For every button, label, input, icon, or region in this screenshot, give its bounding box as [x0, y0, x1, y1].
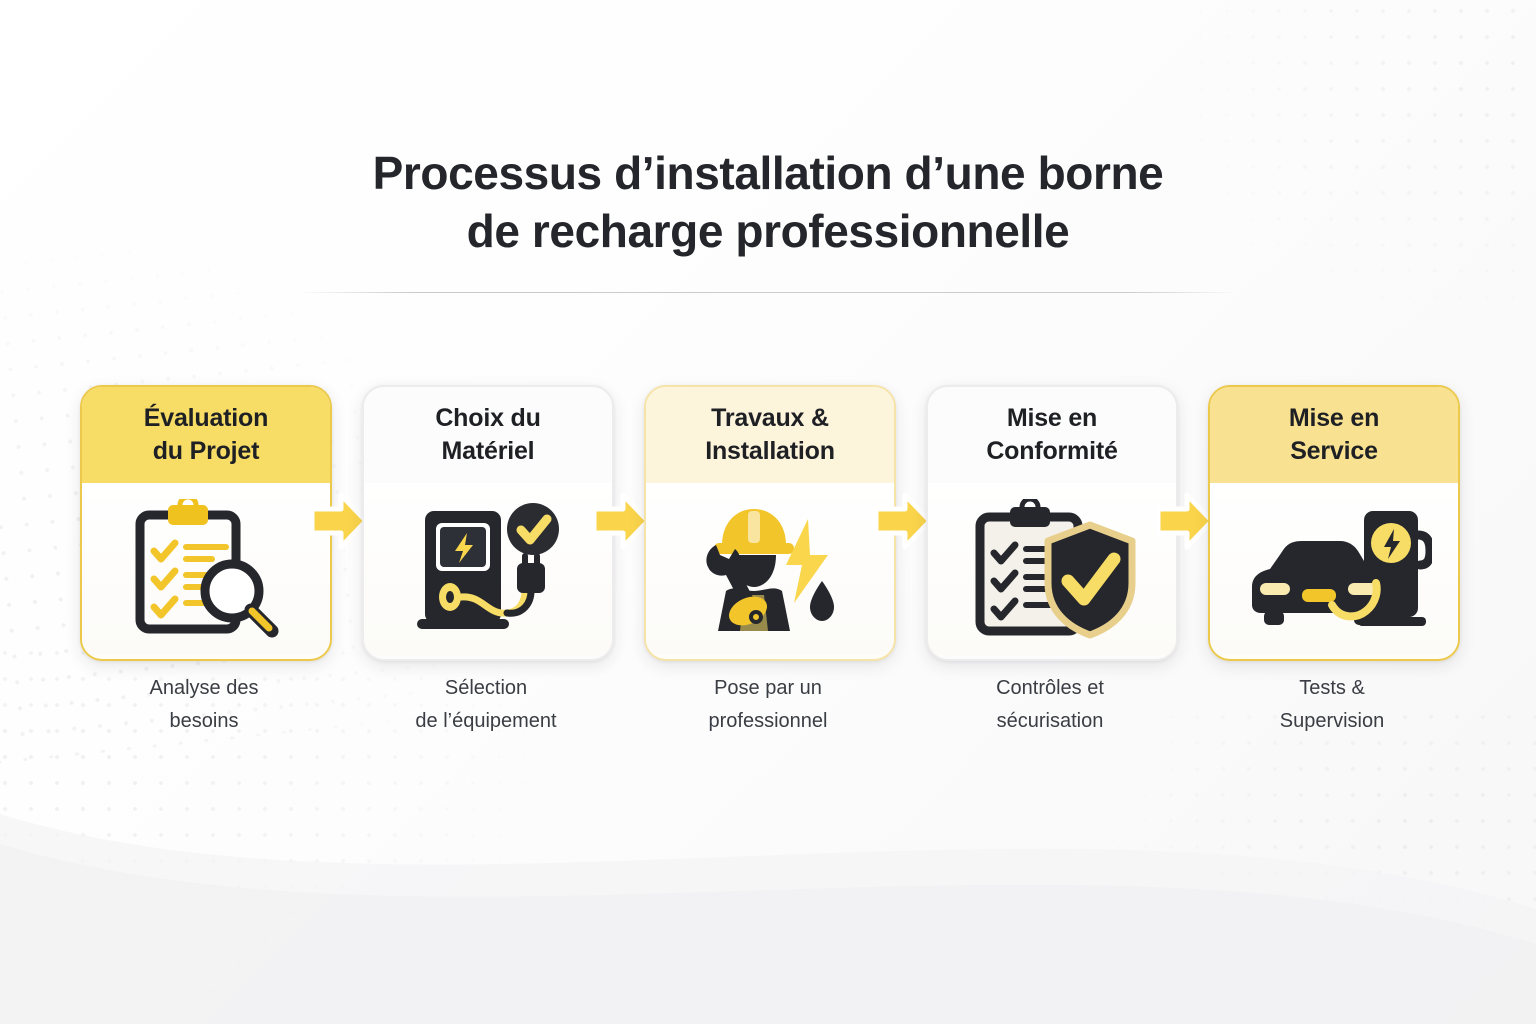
step-title-3-line2: Installation — [705, 435, 835, 468]
arrow-2-to-3 — [590, 489, 652, 553]
step-header-3: Travaux & Installation — [646, 387, 894, 483]
step-title-5-line2: Service — [1289, 435, 1379, 468]
step-caption-2-line2: de l’équipement — [362, 705, 610, 738]
step-title-1-line2: du Projet — [144, 435, 268, 468]
step-header-1: Évaluation du Projet — [82, 387, 330, 483]
arrow-right-icon — [590, 489, 652, 553]
step-caption-4: Contrôles et sécurisation — [926, 672, 1174, 738]
step-body-2 — [364, 483, 612, 655]
step-header-4: Mise en Conformité — [928, 387, 1176, 483]
step-title-2-line1: Choix du — [435, 402, 540, 435]
infographic-canvas: Processus d’installation d’une borne de … — [0, 0, 1536, 1024]
step-caption-4-line2: sécurisation — [926, 705, 1174, 738]
clipboard-shield-check-icon — [964, 499, 1140, 639]
arrow-4-to-5 — [1154, 489, 1216, 553]
halftone-dots-bottom-right — [1106, 704, 1536, 1024]
step-caption-3: Pose par un professionnel — [644, 672, 892, 738]
step-title-3-line1: Travaux & — [705, 402, 835, 435]
step-title-4-line1: Mise en — [986, 402, 1117, 435]
worker-helmet-wrench-bolt-icon — [682, 499, 858, 639]
step-card-travaux-et-installation[interactable]: Travaux & Installation — [644, 385, 896, 661]
charging-station-check-icon — [403, 499, 573, 639]
arrow-3-to-4 — [872, 489, 934, 553]
step-body-3 — [646, 483, 894, 655]
arrow-right-icon — [308, 489, 370, 553]
arrow-right-icon — [1154, 489, 1216, 553]
page-title-line1: Processus d’installation d’une borne — [373, 147, 1164, 199]
step-card-evaluation-du-projet[interactable]: Évaluation du Projet — [80, 385, 332, 661]
step-caption-5-line1: Tests & — [1208, 672, 1456, 705]
title-divider — [298, 292, 1238, 293]
page-title: Processus d’installation d’une borne de … — [0, 144, 1536, 260]
step-title-2-line2: Matériel — [435, 435, 540, 468]
step-header-5: Mise en Service — [1210, 387, 1458, 483]
page-title-line2: de recharge professionnelle — [0, 202, 1536, 260]
clipboard-checklist-magnifier-icon — [122, 499, 290, 639]
process-flow: Évaluation du Projet — [80, 385, 1456, 660]
step-captions: Analyse des besoins Sélection de l’équip… — [80, 672, 1456, 752]
step-body-5 — [1210, 483, 1458, 655]
step-caption-5: Tests & Supervision — [1208, 672, 1456, 738]
step-body-4 — [928, 483, 1176, 655]
step-caption-1-line1: Analyse des — [80, 672, 328, 705]
step-card-choix-du-materiel[interactable]: Choix du Matériel — [362, 385, 614, 661]
step-caption-2-line1: Sélection — [362, 672, 610, 705]
step-card-mise-en-service[interactable]: Mise en Service — [1208, 385, 1460, 661]
step-card-mise-en-conformite[interactable]: Mise en Conformité — [926, 385, 1178, 661]
step-caption-1-line2: besoins — [80, 705, 328, 738]
step-body-1 — [82, 483, 330, 655]
step-title-1-line1: Évaluation — [144, 402, 268, 435]
step-header-2: Choix du Matériel — [364, 387, 612, 483]
step-title-5-line1: Mise en — [1289, 402, 1379, 435]
arrow-right-icon — [872, 489, 934, 553]
step-title-4-line2: Conformité — [986, 435, 1117, 468]
step-caption-4-line1: Contrôles et — [926, 672, 1174, 705]
arrow-1-to-2 — [308, 489, 370, 553]
step-caption-3-line2: professionnel — [644, 705, 892, 738]
step-caption-3-line1: Pose par un — [644, 672, 892, 705]
step-caption-2: Sélection de l’équipement — [362, 672, 610, 738]
step-caption-1: Analyse des besoins — [80, 672, 328, 738]
ev-car-charging-icon — [1236, 501, 1432, 637]
step-caption-5-line2: Supervision — [1208, 705, 1456, 738]
